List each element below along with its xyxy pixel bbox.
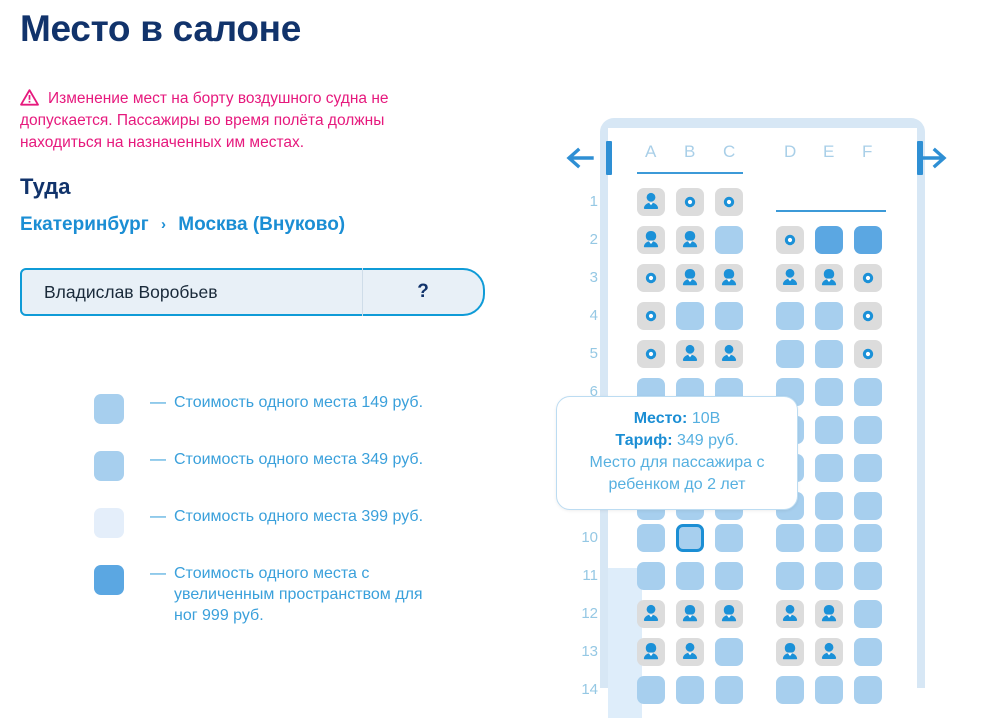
passenger-female-icon [776, 638, 804, 666]
legend-item: —Стоимость одного места с увеличенным пр… [94, 563, 424, 626]
seat-unavailable [854, 264, 882, 292]
column-header-b: B [684, 142, 695, 162]
seat-available[interactable] [715, 302, 743, 330]
seat-selection-page: Место в салоне Изменение мест на борту в… [0, 0, 1000, 685]
seat-unavailable [637, 264, 665, 292]
seat-blocked-icon [676, 188, 704, 216]
legend-dash: — [150, 506, 166, 527]
door-right-icon [917, 141, 923, 175]
seat-available[interactable] [676, 676, 704, 704]
seat-unavailable [776, 226, 804, 254]
route-destination[interactable]: Москва (Внуково) [178, 214, 345, 235]
tooltip-fare-label: Тариф: [615, 432, 672, 449]
legend-swatch [94, 565, 124, 595]
seat-available[interactable] [854, 416, 882, 444]
passenger-male-icon [676, 340, 704, 368]
seat-occupied-female [676, 264, 704, 292]
passenger-female-icon [815, 264, 843, 292]
seat-occupied-male [776, 600, 804, 628]
direction-heading: Туда [20, 174, 71, 200]
seat-available[interactable] [715, 638, 743, 666]
arrow-left-icon[interactable] [562, 145, 608, 171]
warning-triangle-icon [20, 89, 39, 106]
seat-selected[interactable] [676, 524, 704, 552]
seat-unavailable [637, 302, 665, 330]
seat-available[interactable] [854, 562, 882, 590]
seat-occupied-female [637, 638, 665, 666]
legend-label: Стоимость одного места 399 руб. [174, 506, 423, 527]
seat-available[interactable] [776, 524, 804, 552]
seat-blocked-icon [854, 302, 882, 330]
seat-occupied-male [637, 600, 665, 628]
seat-blocked-icon [776, 226, 804, 254]
passenger-male-icon [815, 638, 843, 666]
tooltip-note: Место для пассажира с ребенком до 2 лет [567, 452, 787, 496]
seat-unavailable [676, 188, 704, 216]
seat-occupied-female [715, 600, 743, 628]
column-header-a: A [645, 142, 656, 162]
legend-item: —Стоимость одного места 349 руб. [94, 449, 424, 481]
seat-blocked-icon [637, 340, 665, 368]
help-button[interactable]: ? [363, 281, 483, 303]
seat-available[interactable] [637, 676, 665, 704]
seat-available[interactable] [815, 302, 843, 330]
seat-available[interactable] [637, 562, 665, 590]
seat-occupied-male [676, 340, 704, 368]
seat-available[interactable] [715, 562, 743, 590]
seat-available[interactable] [815, 378, 843, 406]
seat-available[interactable] [776, 676, 804, 704]
left-panel: Место в салоне Изменение мест на борту в… [0, 0, 545, 685]
passenger-female-icon [715, 264, 743, 292]
seat-available[interactable] [676, 302, 704, 330]
seat-premium[interactable] [854, 226, 882, 254]
seat-available[interactable] [854, 454, 882, 482]
legend-dash: — [150, 392, 166, 413]
route-origin[interactable]: Екатеринбург [20, 214, 149, 235]
page-title: Место в салоне [20, 8, 301, 50]
seat-available[interactable] [854, 600, 882, 628]
legend-swatch [94, 508, 124, 538]
passenger-male-icon [637, 600, 665, 628]
passenger-female-icon [676, 600, 704, 628]
seat-occupied-male [776, 264, 804, 292]
passenger-name: Владислав Воробьев [22, 282, 362, 303]
row-number-1: 1 [576, 193, 598, 210]
legend-swatch [94, 394, 124, 424]
seat-occupied-male [815, 638, 843, 666]
seat-blocked-icon [637, 264, 665, 292]
route: Екатеринбург › Москва (Внуково) [20, 214, 345, 236]
column-header-e: E [823, 142, 834, 162]
passenger-male-icon [715, 340, 743, 368]
seat-available[interactable] [815, 524, 843, 552]
legend-label: Стоимость одного места с увеличенным про… [174, 563, 424, 626]
column-header-d: D [784, 142, 796, 162]
seat-available[interactable] [776, 302, 804, 330]
seat-available[interactable] [776, 562, 804, 590]
row-number-4: 4 [576, 307, 598, 324]
row-number-2: 2 [576, 231, 598, 248]
legend-item: —Стоимость одного места 399 руб. [94, 506, 424, 538]
seat-available[interactable] [715, 226, 743, 254]
legend-swatch [94, 451, 124, 481]
seat-available[interactable] [815, 676, 843, 704]
seat-available[interactable] [815, 416, 843, 444]
legend-dash: — [150, 449, 166, 470]
seat-occupied-male [715, 340, 743, 368]
row-number-13: 13 [576, 643, 598, 660]
passenger-female-icon [715, 600, 743, 628]
warning-text: Изменение мест на борту воздушного судна… [20, 90, 389, 151]
seat-blocked-icon [854, 340, 882, 368]
passenger-male-icon [676, 638, 704, 666]
tooltip-seat-label: Место: [634, 410, 688, 427]
arrow-right-icon[interactable] [907, 145, 953, 171]
seat-unavailable [854, 340, 882, 368]
column-header-f: F [862, 142, 872, 162]
column-header-c: C [723, 142, 735, 162]
seat-available[interactable] [715, 676, 743, 704]
seat-available[interactable] [854, 638, 882, 666]
seat-occupied-female [676, 600, 704, 628]
passenger-female-icon [815, 600, 843, 628]
seat-occupied-male [637, 188, 665, 216]
cabin-divider-line [637, 172, 743, 174]
seat-occupied-male [676, 638, 704, 666]
seat-available[interactable] [715, 524, 743, 552]
seat-occupied-female [815, 600, 843, 628]
seat-blocked-icon [854, 264, 882, 292]
row-number-11: 11 [576, 567, 598, 584]
seat-blocked-icon [715, 188, 743, 216]
row-number-5: 5 [576, 345, 598, 362]
seat-unavailable [637, 340, 665, 368]
seat-occupied-female [776, 638, 804, 666]
route-separator-icon: › [161, 216, 166, 233]
legend-item: —Стоимость одного места 149 руб. [94, 392, 424, 424]
tooltip-seat-value: 10В [692, 410, 720, 427]
seat-available[interactable] [637, 524, 665, 552]
seat-available[interactable] [676, 562, 704, 590]
seat-premium[interactable] [815, 226, 843, 254]
passenger-male-icon [776, 600, 804, 628]
row-number-12: 12 [576, 605, 598, 622]
passenger-female-icon [637, 226, 665, 254]
door-left-icon [606, 141, 612, 175]
passenger-male-icon [776, 264, 804, 292]
seat-available[interactable] [815, 562, 843, 590]
seat-available[interactable] [854, 378, 882, 406]
passenger-female-icon [637, 638, 665, 666]
row-number-10: 10 [576, 529, 598, 546]
row-number-14: 14 [576, 681, 598, 698]
seat-occupied-female [815, 264, 843, 292]
seat-blocked-icon [637, 302, 665, 330]
passenger-female-icon [676, 226, 704, 254]
cabin-divider-line [776, 210, 886, 212]
tooltip-fare-line: Тариф: 349 руб. [567, 430, 787, 452]
tooltip-seat-line: Место: 10В [567, 408, 787, 430]
passenger-male-icon [637, 188, 665, 216]
warning-notice: Изменение мест на борту воздушного судна… [20, 88, 440, 154]
legend-dash: — [150, 563, 166, 584]
seat-available[interactable] [776, 340, 804, 368]
seat-available[interactable] [854, 524, 882, 552]
row-number-3: 3 [576, 269, 598, 286]
passenger-selector[interactable]: Владислав Воробьев ? [20, 268, 485, 316]
tooltip-fare-value: 349 руб. [677, 432, 739, 449]
seat-available[interactable] [815, 492, 843, 520]
seat-available[interactable] [815, 454, 843, 482]
seat-unavailable [854, 302, 882, 330]
seat-tooltip: Место: 10В Тариф: 349 руб. Место для пас… [556, 396, 798, 510]
legend-label: Стоимость одного места 349 руб. [174, 449, 423, 470]
seat-available[interactable] [815, 340, 843, 368]
legend-label: Стоимость одного места 149 руб. [174, 392, 423, 413]
seat-occupied-female [715, 264, 743, 292]
price-legend: —Стоимость одного места 149 руб.—Стоимос… [94, 392, 424, 651]
seat-occupied-female [637, 226, 665, 254]
seat-available[interactable] [854, 676, 882, 704]
seat-occupied-female [676, 226, 704, 254]
seat-unavailable [715, 188, 743, 216]
passenger-female-icon [676, 264, 704, 292]
seat-available[interactable] [854, 492, 882, 520]
